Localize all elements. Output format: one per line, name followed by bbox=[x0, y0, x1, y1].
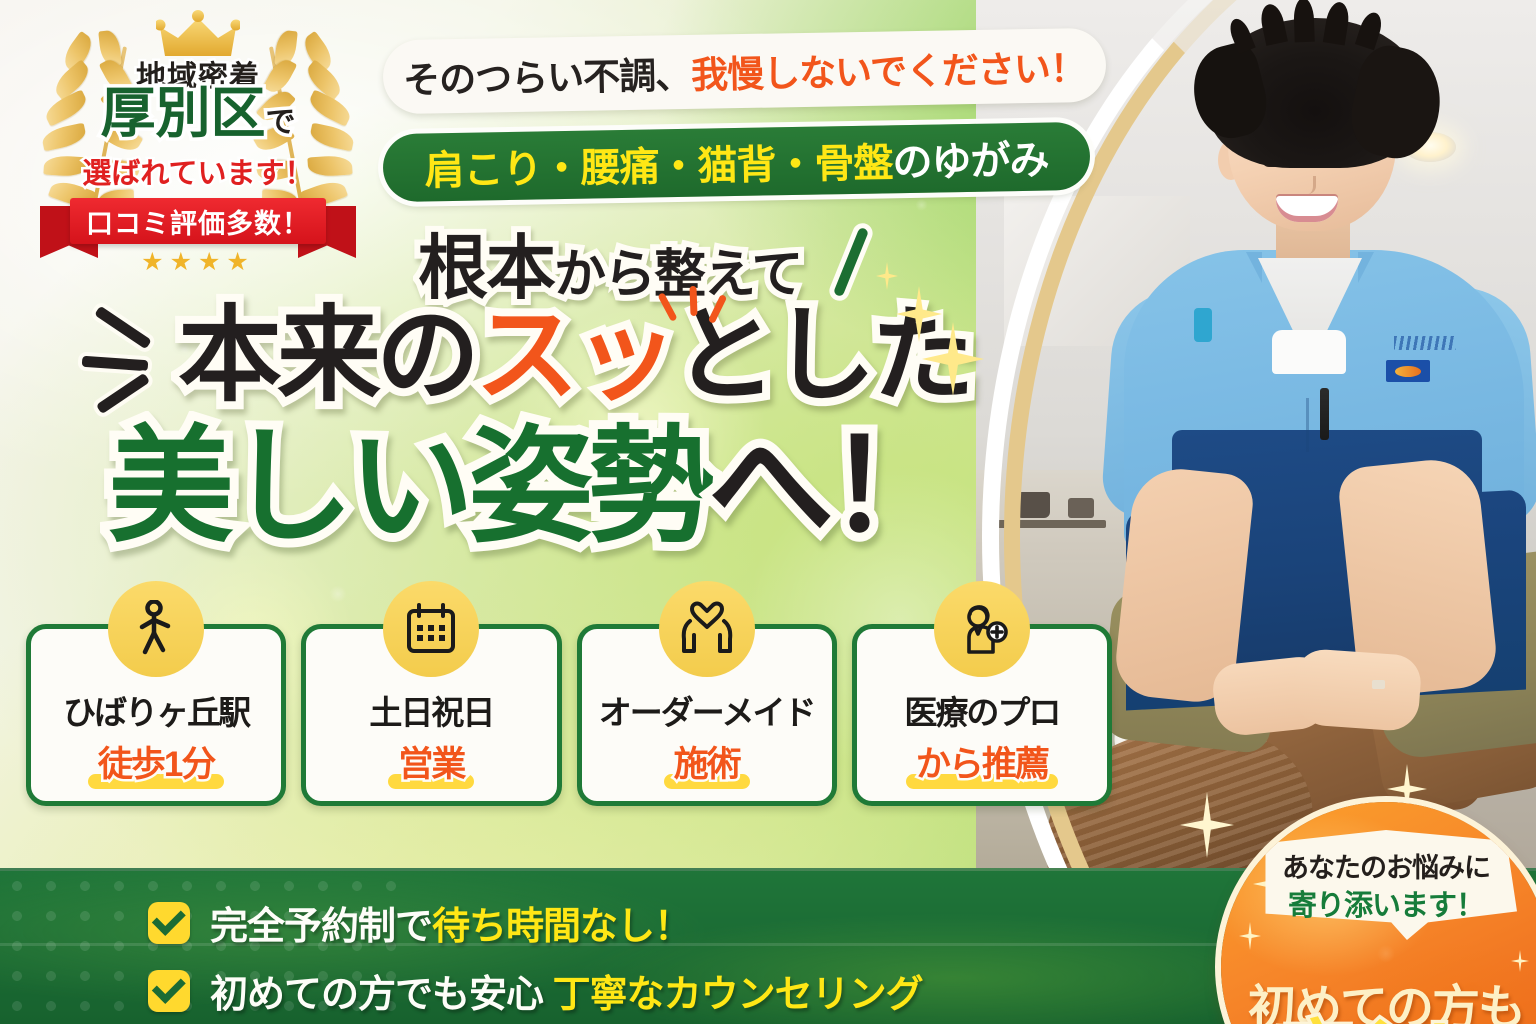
card-subtitle: から推薦 bbox=[916, 745, 1048, 784]
benefit-row-2: 初めての方でも安心 丁寧なカウンセリング bbox=[148, 963, 923, 1018]
headline-line-3: 美しい姿勢へ！ bbox=[108, 424, 948, 550]
feature-card-station[interactable]: ひばりヶ丘駅 徒歩1分 bbox=[26, 624, 286, 806]
check-icon bbox=[148, 970, 190, 1012]
pain-question-bubble: そのつらい不調、我慢しないでください！ bbox=[382, 28, 1106, 115]
badge-main-line-2: 安心！ bbox=[1221, 1018, 1536, 1024]
benefit-plain: 初めての方でも安心 bbox=[210, 974, 553, 1016]
headline-line-2: 本来のスッとした bbox=[178, 304, 970, 408]
heart-in-hands-icon bbox=[659, 581, 755, 677]
headline-kanji: 根本 bbox=[418, 229, 554, 307]
feature-card-doctor[interactable]: 医療のプロ から推薦 bbox=[852, 624, 1112, 806]
walking-person-icon bbox=[108, 581, 204, 677]
card-title: ひばりヶ丘駅 bbox=[63, 686, 249, 734]
check-icon bbox=[148, 902, 190, 944]
accent-tick bbox=[689, 286, 697, 316]
headline-l2-accent: スッ bbox=[475, 298, 673, 414]
benefit-plain: 完全予約制で bbox=[210, 906, 432, 948]
card-title: 土日祝日 bbox=[369, 686, 493, 734]
feature-card-hours[interactable]: 土日祝日 営業 bbox=[301, 624, 561, 806]
ad-banner: 地域密着 厚別区で 選ばれています！ 口コミ評価多数！ ★★★★ そのつらい不調… bbox=[0, 0, 1536, 1024]
symptoms-suffix: のゆがみ bbox=[892, 139, 1049, 186]
benefit-accent: 待ち時間なし！ bbox=[432, 906, 691, 948]
main-headline: 根本から整えて 本来のスッとした 美しい姿勢へ！ bbox=[0, 212, 1040, 562]
uniform-logo-patch bbox=[1386, 360, 1430, 382]
card-subtitle: 営業 bbox=[398, 745, 464, 784]
badge-speech-line-2: 寄り添います！ bbox=[1255, 882, 1517, 924]
bubble-accent-text: 我慢しないでください！ bbox=[691, 48, 1087, 96]
benefit-row-1: 完全予約制で待ち時間なし！ bbox=[148, 895, 691, 950]
bubble-plain-text: そのつらい不調、 bbox=[403, 55, 692, 101]
card-title: 医療のプロ bbox=[904, 686, 1059, 734]
card-title: オーダーメイド bbox=[599, 686, 815, 734]
award-line-3: 選ばれています！ bbox=[38, 150, 358, 192]
headline-l2a: 本来の bbox=[178, 298, 475, 414]
feature-cards: ひばりヶ丘駅 徒歩1分 土日祝日 営業 bbox=[26, 624, 1112, 806]
calendar-icon bbox=[383, 581, 479, 677]
award-district-suffix: で bbox=[266, 106, 296, 139]
card-subtitle: 徒歩1分 bbox=[98, 745, 214, 784]
award-district: 厚別区 bbox=[100, 82, 265, 144]
benefit-accent: 丁寧なカウンセリング bbox=[553, 974, 923, 1016]
card-subtitle: 施術 bbox=[674, 745, 740, 784]
symptoms-bubble: 肩こり・腰痛・猫背・骨盤のゆがみ bbox=[382, 122, 1090, 202]
reassurance-badge[interactable]: あなたのお悩みに 寄り添います！ 初めての方も 安心！ bbox=[1221, 802, 1536, 1024]
badge-speech-line-1: あなたのお悩みに bbox=[1255, 846, 1517, 885]
headline-l3-black: へ！ bbox=[708, 416, 948, 557]
headline-line1-rest: から整えて bbox=[554, 246, 801, 304]
feature-card-custom[interactable]: オーダーメイド 施術 bbox=[577, 624, 837, 806]
headline-l3-green: 美しい姿勢 bbox=[108, 416, 708, 557]
symptoms-list: 肩こり・腰痛・猫背・骨盤 bbox=[424, 141, 893, 193]
doctor-plus-icon bbox=[934, 581, 1030, 677]
award-line-2: 厚別区で bbox=[38, 86, 358, 141]
